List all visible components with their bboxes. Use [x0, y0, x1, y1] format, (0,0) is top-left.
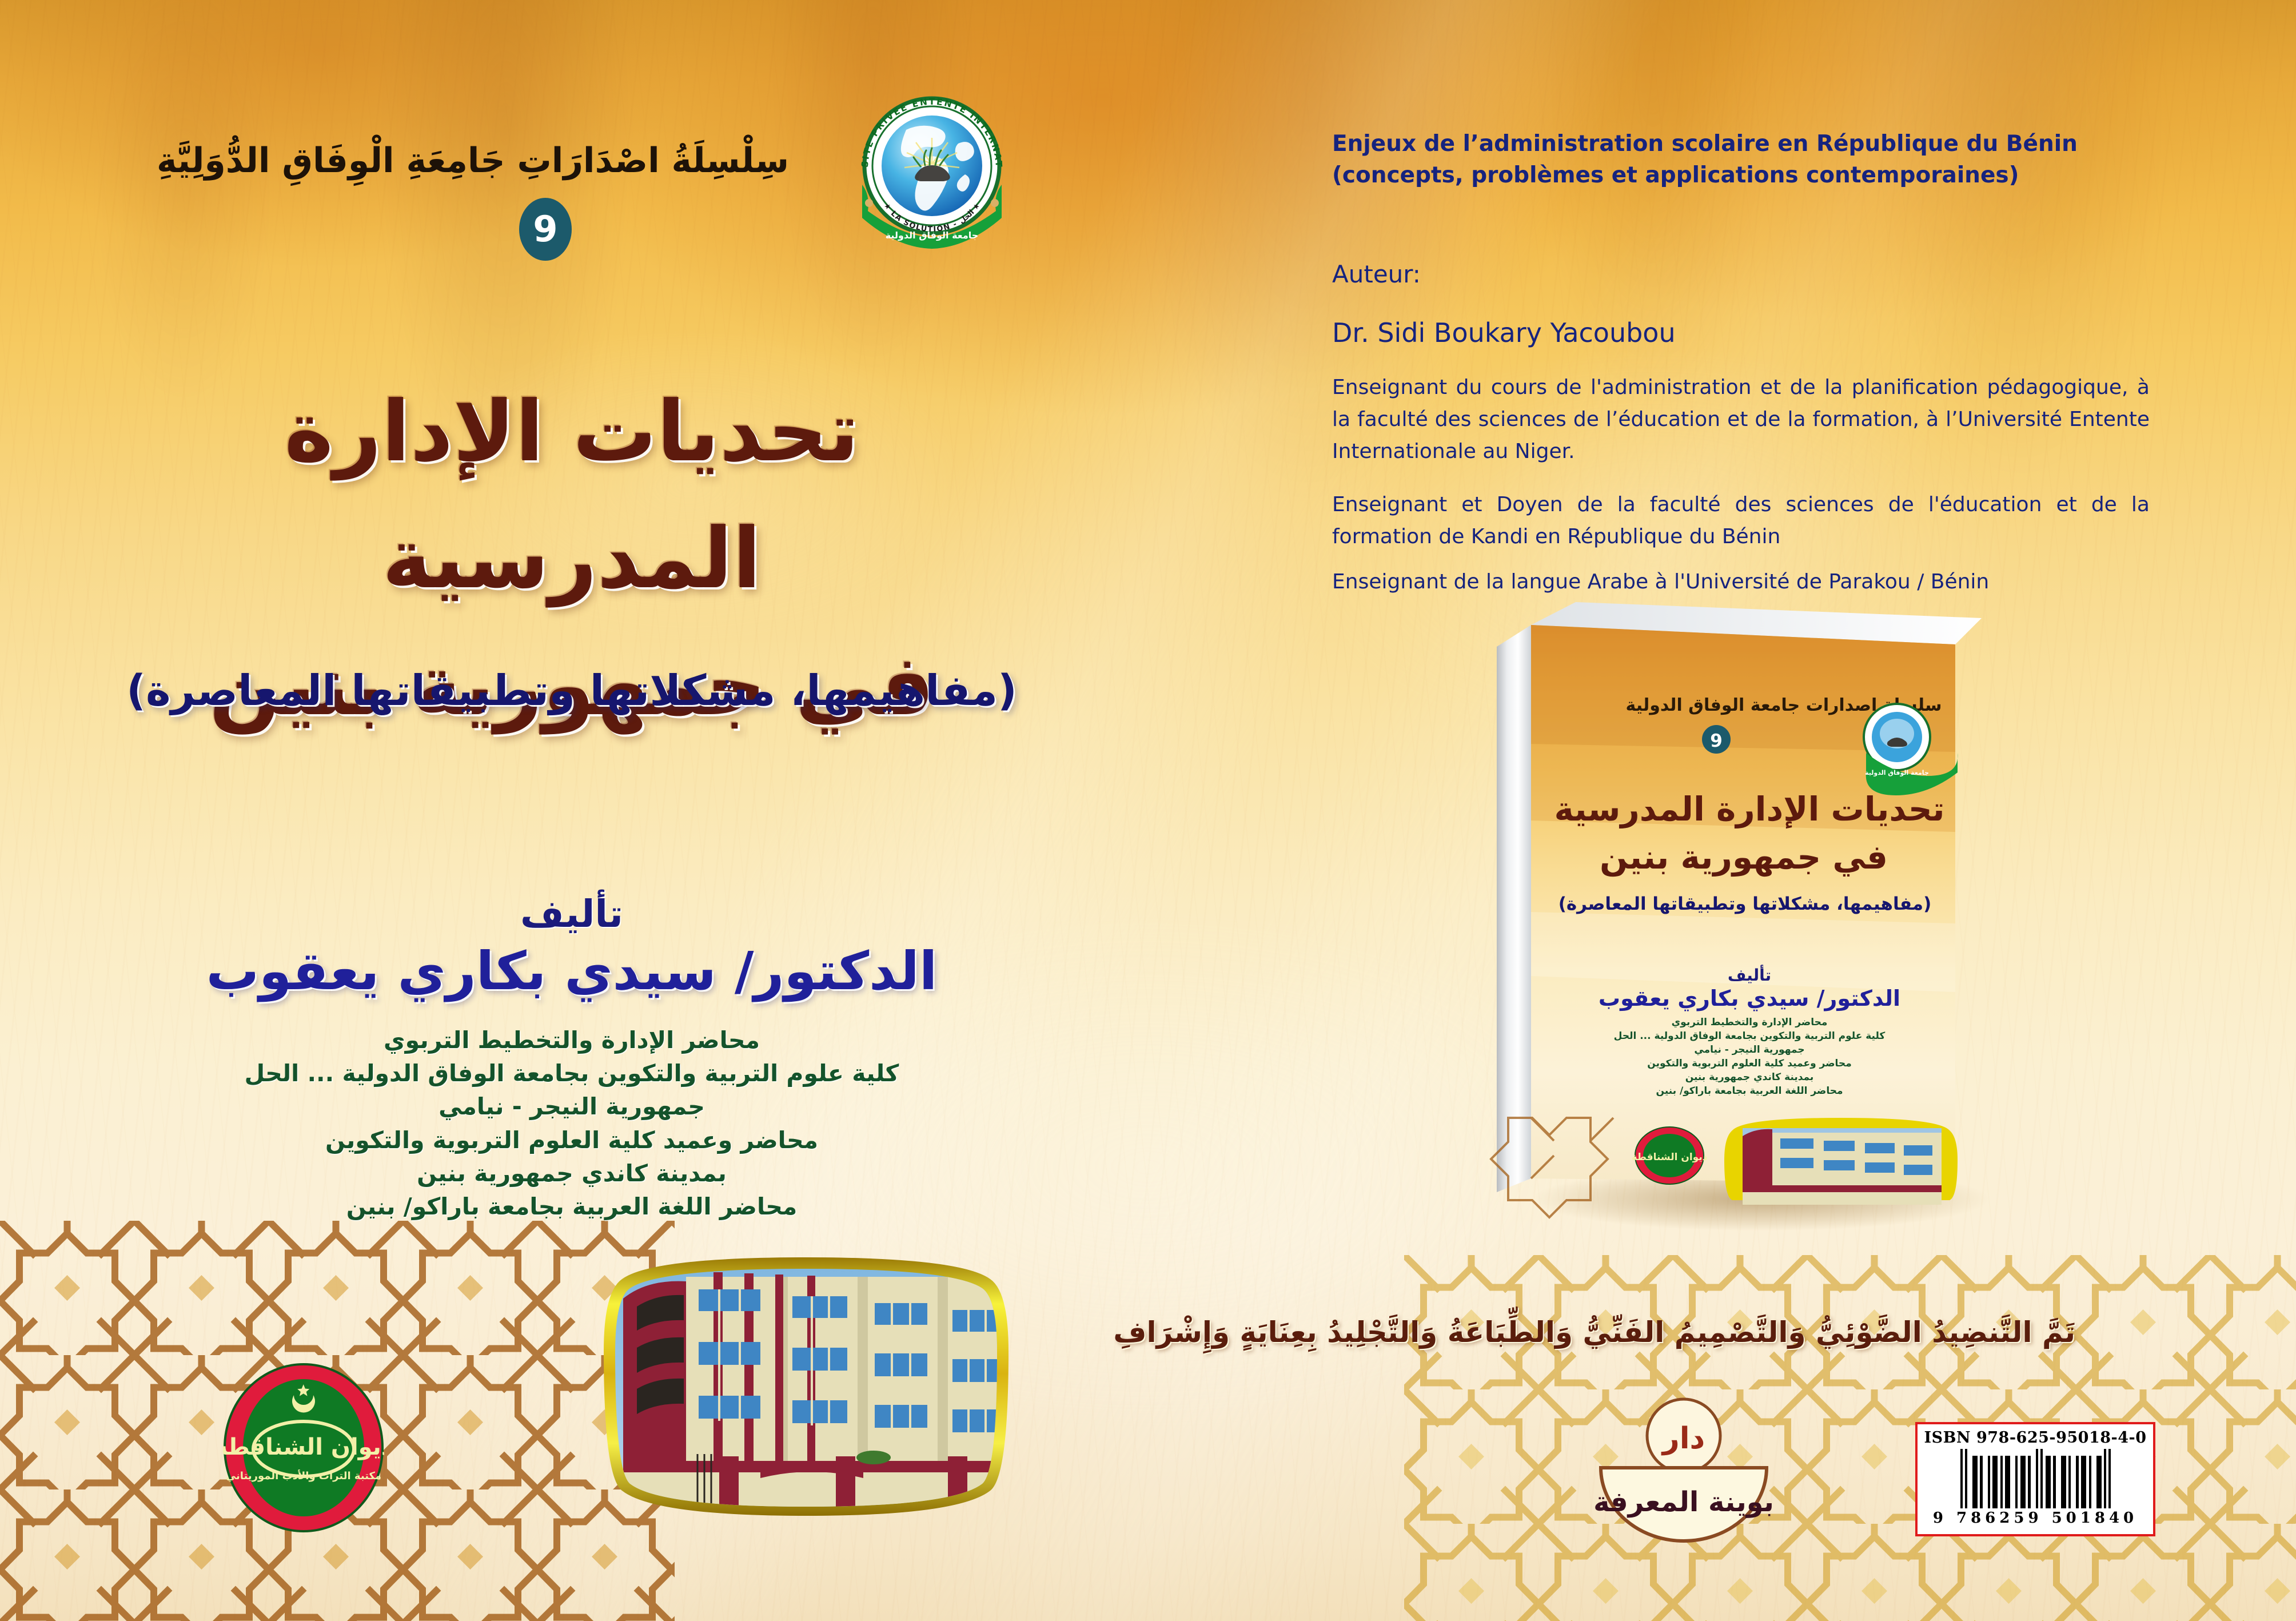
mockup-subtitle: (مفاهيمها، مشكلاتها وتطبيقاتها المعاصرة) [1558, 894, 1932, 914]
printing-credit-arabic: تَمَّ التَّنضِيدُ الضَّوْئِيُّ وَالتَّصْ… [1315, 1315, 2075, 1349]
isbn-label: ISBN 978-625-95018-4-0 [1924, 1429, 2146, 1447]
svg-text:جمهورية النيجر - نيامي: جمهورية النيجر - نيامي [1694, 1044, 1804, 1056]
credit-line: كلية علوم التربية والتكوين بجامعة الوفاق… [137, 1057, 1006, 1090]
publisher-logo-bottom-word: بوينة المعرفة [1593, 1486, 1774, 1518]
svg-text:جامعة الوفاق الدولية: جامعة الوفاق الدولية [1865, 769, 1929, 776]
publisher-logo-top-word: دار [1661, 1421, 1705, 1456]
svg-text:بمدينة كاندي جمهورية بنين: بمدينة كاندي جمهورية بنين [1685, 1072, 1814, 1083]
credit-line: بمدينة كاندي جمهورية بنين [137, 1157, 1006, 1190]
mockup-author-name: الدكتور/ سيدي بكاري يعقوب [1599, 986, 1900, 1011]
back-title-line-1: Enjeux de l’administration scolaire en R… [1332, 129, 2150, 160]
mockup-title-line-1: تحديات الإدارة المدرسية [1554, 790, 1945, 829]
author-name-arabic: الدكتور/ سيدي بكاري يعقوب [91, 941, 1052, 1002]
diwan-seal-main-text: ديوان الشناقطة [223, 1434, 384, 1460]
svg-text:محاضر اللغة العربية بجامعة بار: محاضر اللغة العربية بجامعة باراكو/ بنين [1656, 1085, 1843, 1097]
isbn-barcode-block: ISBN 978-625-95018-4-0 [1915, 1422, 2155, 1536]
book-3d-mockup: سلسلة اصدارات جامعة الوفاق الدولية 9 جام… [1464, 592, 2012, 1238]
svg-text:محاضر الإدارة والتخطيط التربوي: محاضر الإدارة والتخطيط التربوي [1672, 1017, 1828, 1028]
svg-text:ديوان الشناقطة: ديوان الشناقطة [1632, 1152, 1708, 1163]
school-building-photo [589, 1244, 1023, 1587]
front-cover: سِلْسِلَةُ اصْدَارَاتِ جَامِعَةِ الْوِفَ… [0, 0, 1132, 1621]
book-cover-spread: سِلْسِلَةُ اصْدَارَاتِ جَامِعَةِ الْوِفَ… [0, 0, 2296, 1621]
credit-line: جمهورية النيجر - نيامي [137, 1090, 1006, 1123]
svg-text:كلية علوم التربية والتكوين بجا: كلية علوم التربية والتكوين بجامعة الوفاق… [1614, 1030, 1886, 1042]
front-title-line-1: تحديات الإدارة المدرسية [91, 369, 1052, 623]
publisher-calligraphy-logo-icon: دار بوينة المعرفة [1584, 1381, 1784, 1581]
auteur-label: Auteur: [1332, 260, 2150, 288]
barcode-digits: 9 786259 501840 [1933, 1510, 2138, 1527]
barcode-bars [1960, 1449, 2111, 1508]
series-number-badge: 9 [519, 198, 572, 261]
mockup-author-label: تأليف [1728, 965, 1771, 985]
back-title-french: Enjeux de l’administration scolaire en R… [1332, 129, 2150, 191]
credit-line: محاضر الإدارة والتخطيط التربوي [137, 1023, 1006, 1057]
bio-paragraph-2: Enseignant et Doyen de la faculté des sc… [1332, 489, 2150, 553]
bio-paragraph-1: Enseignant du cours de l'administration … [1332, 372, 2150, 468]
back-title-line-2: (concepts, problèmes et applications con… [1332, 160, 2150, 192]
diwan-seal-sub-text: مكتبة التراث والأدب الموريتاني [226, 1469, 381, 1482]
back-cover: Enjeux de l’administration scolaire en R… [1161, 0, 2296, 1621]
svg-text:محاضر وعميد كلية العلوم التربو: محاضر وعميد كلية العلوم التربوية والتكوي… [1647, 1058, 1851, 1069]
credit-line: محاضر وعميد كلية العلوم التربوية والتكوي… [137, 1124, 1006, 1157]
university-seal-icon: UNIVERSITE PRIVEE ENTENTE INTERNATIONALE… [852, 89, 1012, 252]
author-label-arabic: تأليف [91, 892, 1052, 936]
mockup-series-number: 9 [1710, 731, 1723, 751]
auteur-name: Dr. Sidi Boukary Yacoubou [1332, 317, 2150, 348]
series-title-arabic: سِلْسِلَةُ اصْدَارَاتِ جَامِعَةِ الْوِفَ… [286, 141, 789, 181]
author-credentials-arabic: محاضر الإدارة والتخطيط التربوي كلية علوم… [137, 1023, 1006, 1223]
credit-line: محاضر اللغة العربية بجامعة باراكو/ بنين [137, 1190, 1006, 1223]
front-subtitle-arabic: (مفاهيمها، مشكلاتها وتطبيقاتها المعاصرة) [91, 663, 1052, 718]
diwan-publisher-seal-icon: ديوان الشناقطة مكتبة التراث والأدب المور… [223, 1362, 384, 1534]
mockup-title-line-2: في جمهورية بنين [1600, 838, 1888, 877]
seal-ribbon-arabic: جامعة الوفاق الدولية [886, 230, 979, 241]
